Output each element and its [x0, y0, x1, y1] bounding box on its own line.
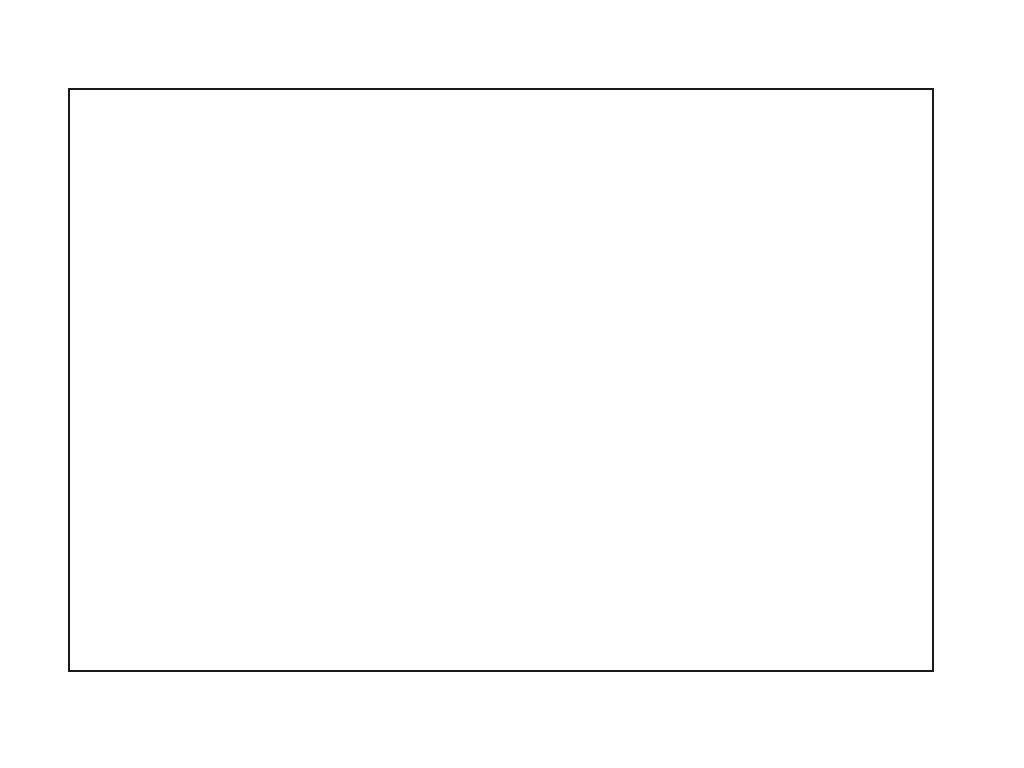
heatmap-cells [70, 90, 932, 670]
y-axis [0, 88, 68, 672]
x-axis [68, 674, 934, 754]
heatmap-plot-area[interactable] [68, 88, 934, 672]
colorbar-stack [944, 287, 972, 492]
colorbar-legend [938, 287, 1024, 492]
